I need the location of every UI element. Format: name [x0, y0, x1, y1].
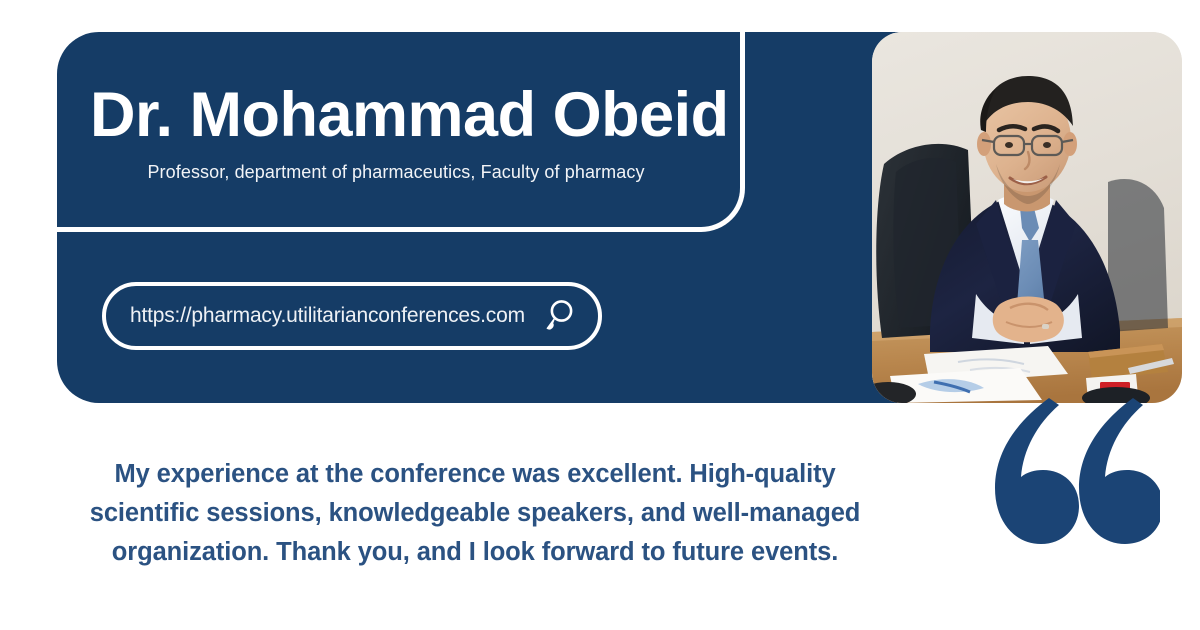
quote-open-icon [975, 380, 1160, 580]
speaker-portrait-photo [872, 32, 1182, 403]
testimonial-card: Dr. Mohammad Obeid Professor, department… [0, 0, 1200, 630]
testimonial-block: My experience at the conference was exce… [60, 455, 890, 571]
search-icon[interactable] [538, 297, 576, 335]
website-search-pill[interactable]: https://pharmacy.utilitarianconferences.… [102, 282, 602, 350]
name-block: Dr. Mohammad Obeid Professor, department… [90, 82, 740, 183]
testimonial-text: My experience at the conference was exce… [60, 455, 890, 571]
speaker-name: Dr. Mohammad Obeid [90, 82, 740, 148]
website-url-text[interactable]: https://pharmacy.utilitarianconferences.… [130, 304, 528, 328]
speaker-role: Professor, department of pharmaceutics, … [90, 162, 702, 183]
